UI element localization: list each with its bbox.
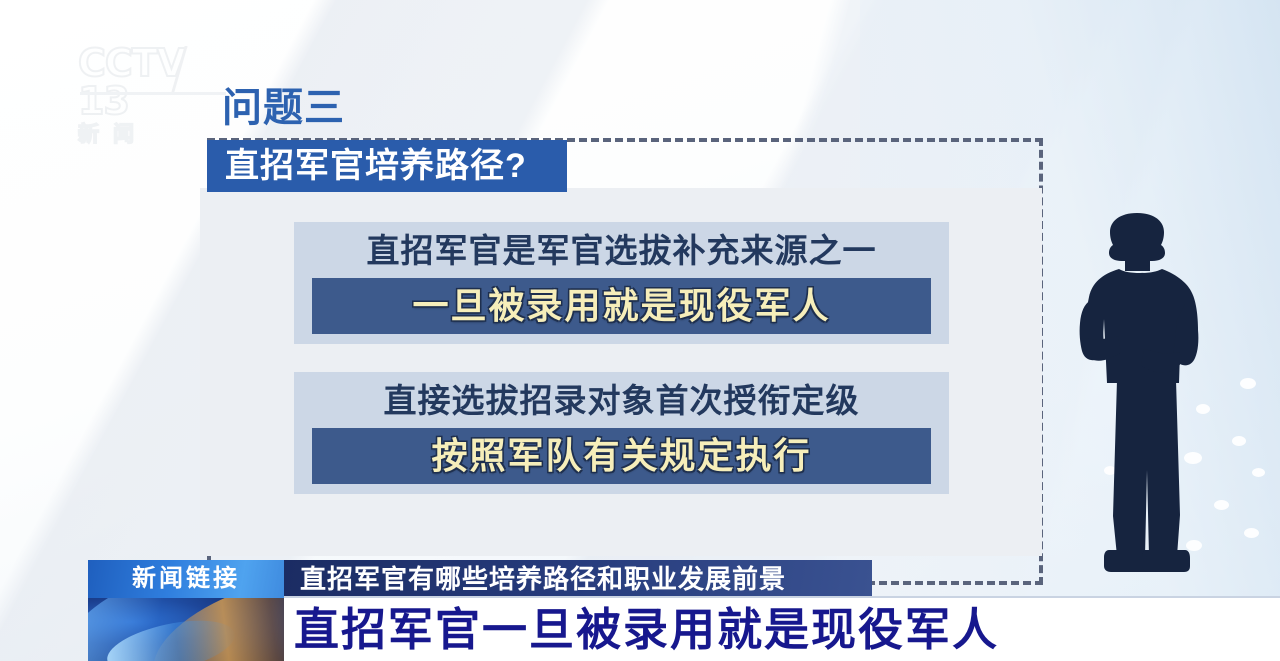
cctv-channel-mark: CCTV 13 — [78, 44, 228, 120]
cctv-13-watermark-icon: CCTV 13 新闻 — [78, 44, 228, 120]
content-card: 直招军官是军官选拔补充来源之一 一旦被录用就是现役军人 — [294, 222, 949, 344]
news-swoosh-graphic-icon — [88, 598, 284, 661]
card-highlight-text: 按照军队有关规定执行 — [431, 438, 811, 474]
card-lead-text: 直招军官是军官选拔补充来源之一 — [294, 232, 949, 270]
slide-title-banner: 直招军官培养路径? — [207, 140, 567, 192]
card-highlight-band: 按照军队有关规定执行 — [312, 428, 931, 484]
card-highlight-band: 一旦被录用就是现役军人 — [312, 278, 931, 334]
lower-third-bar: 新闻链接 直招军官有哪些培养路径和职业发展前景 — [88, 560, 872, 598]
broadcast-graphic-stage: CCTV 13 新闻 问题三 直招军官培养路径? 直招军官是军官选拔补充来源之一… — [0, 0, 1280, 661]
lower-third-headline-text: 直招军官有哪些培养路径和职业发展前景 — [300, 566, 786, 592]
bottom-headline-text: 直招军官一旦被录用就是现役军人 — [294, 607, 999, 652]
lower-third-headline-box: 直招军官有哪些培养路径和职业发展前景 — [284, 560, 872, 598]
soldier-silhouette-icon — [1055, 212, 1230, 612]
slide-title-text: 直招军官培养路径? — [225, 149, 527, 183]
bottom-headline-strip: 直招军官一旦被录用就是现役军人 — [284, 598, 1280, 661]
content-card: 直接选拔招录对象首次授衔定级 按照军队有关规定执行 — [294, 372, 949, 494]
card-highlight-text: 一旦被录用就是现役军人 — [412, 288, 830, 324]
lower-third-tag: 新闻链接 — [88, 560, 284, 598]
cctv-logo-underline — [80, 92, 226, 95]
lower-third-tag-text: 新闻链接 — [132, 567, 240, 591]
cctv-channel-sub: 新闻 — [78, 124, 228, 145]
question-label: 问题三 — [222, 88, 345, 128]
card-lead-text: 直接选拔招录对象首次授衔定级 — [294, 382, 949, 420]
